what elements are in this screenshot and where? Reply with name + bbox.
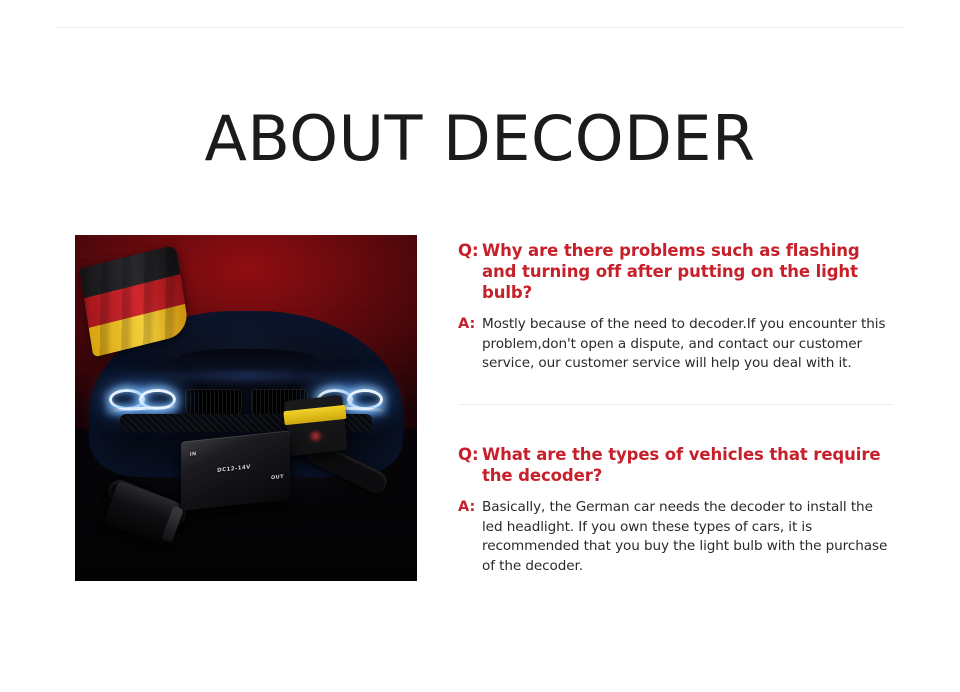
product-image: IN DC12-14V OUT (75, 235, 417, 581)
answer-marker: A: (458, 315, 482, 335)
connector-indicator (307, 429, 323, 443)
faq-answer-row: A: Basically, the German car needs the d… (458, 498, 894, 576)
faq-answer-row: A: Mostly because of the need to decoder… (458, 315, 894, 374)
headlight-left (108, 388, 177, 408)
faq-question-row: Q: What are the types of vehicles that r… (458, 444, 894, 486)
yellow-band-connector (284, 395, 348, 456)
page-title: ABOUT DECODER (0, 104, 960, 174)
faq-answer-text: Basically, the German car needs the deco… (482, 498, 894, 576)
kidney-grille-left (185, 389, 242, 416)
decoder-module: IN DC12-14V OUT (181, 430, 290, 511)
decoder-label-in: IN (190, 451, 197, 458)
decoder-label-voltage: DC12-14V (217, 465, 251, 475)
windshield (170, 349, 321, 371)
question-marker: Q: (458, 240, 482, 261)
faq-section: Q: Why are there problems such as flashi… (458, 240, 894, 374)
faq-answer-text: Mostly because of the need to decoder.If… (482, 315, 894, 374)
faq-question-text: Why are there problems such as flashing … (482, 240, 894, 303)
faq-divider (458, 404, 894, 405)
decoder-label-out: OUT (271, 474, 284, 481)
hood-highlight (145, 371, 346, 381)
faq-item-1: Q: Why are there problems such as flashi… (458, 240, 894, 374)
question-marker: Q: (458, 444, 482, 465)
connector-yellow-band (283, 404, 347, 425)
top-divider (56, 27, 904, 28)
faq-item-2: Q: What are the types of vehicles that r… (458, 444, 894, 576)
faq-question-row: Q: Why are there problems such as flashi… (458, 240, 894, 303)
faq-question-text: What are the types of vehicles that requ… (482, 444, 894, 486)
answer-marker: A: (458, 498, 482, 518)
about-decoder-page: ABOUT DECODER (0, 0, 960, 692)
